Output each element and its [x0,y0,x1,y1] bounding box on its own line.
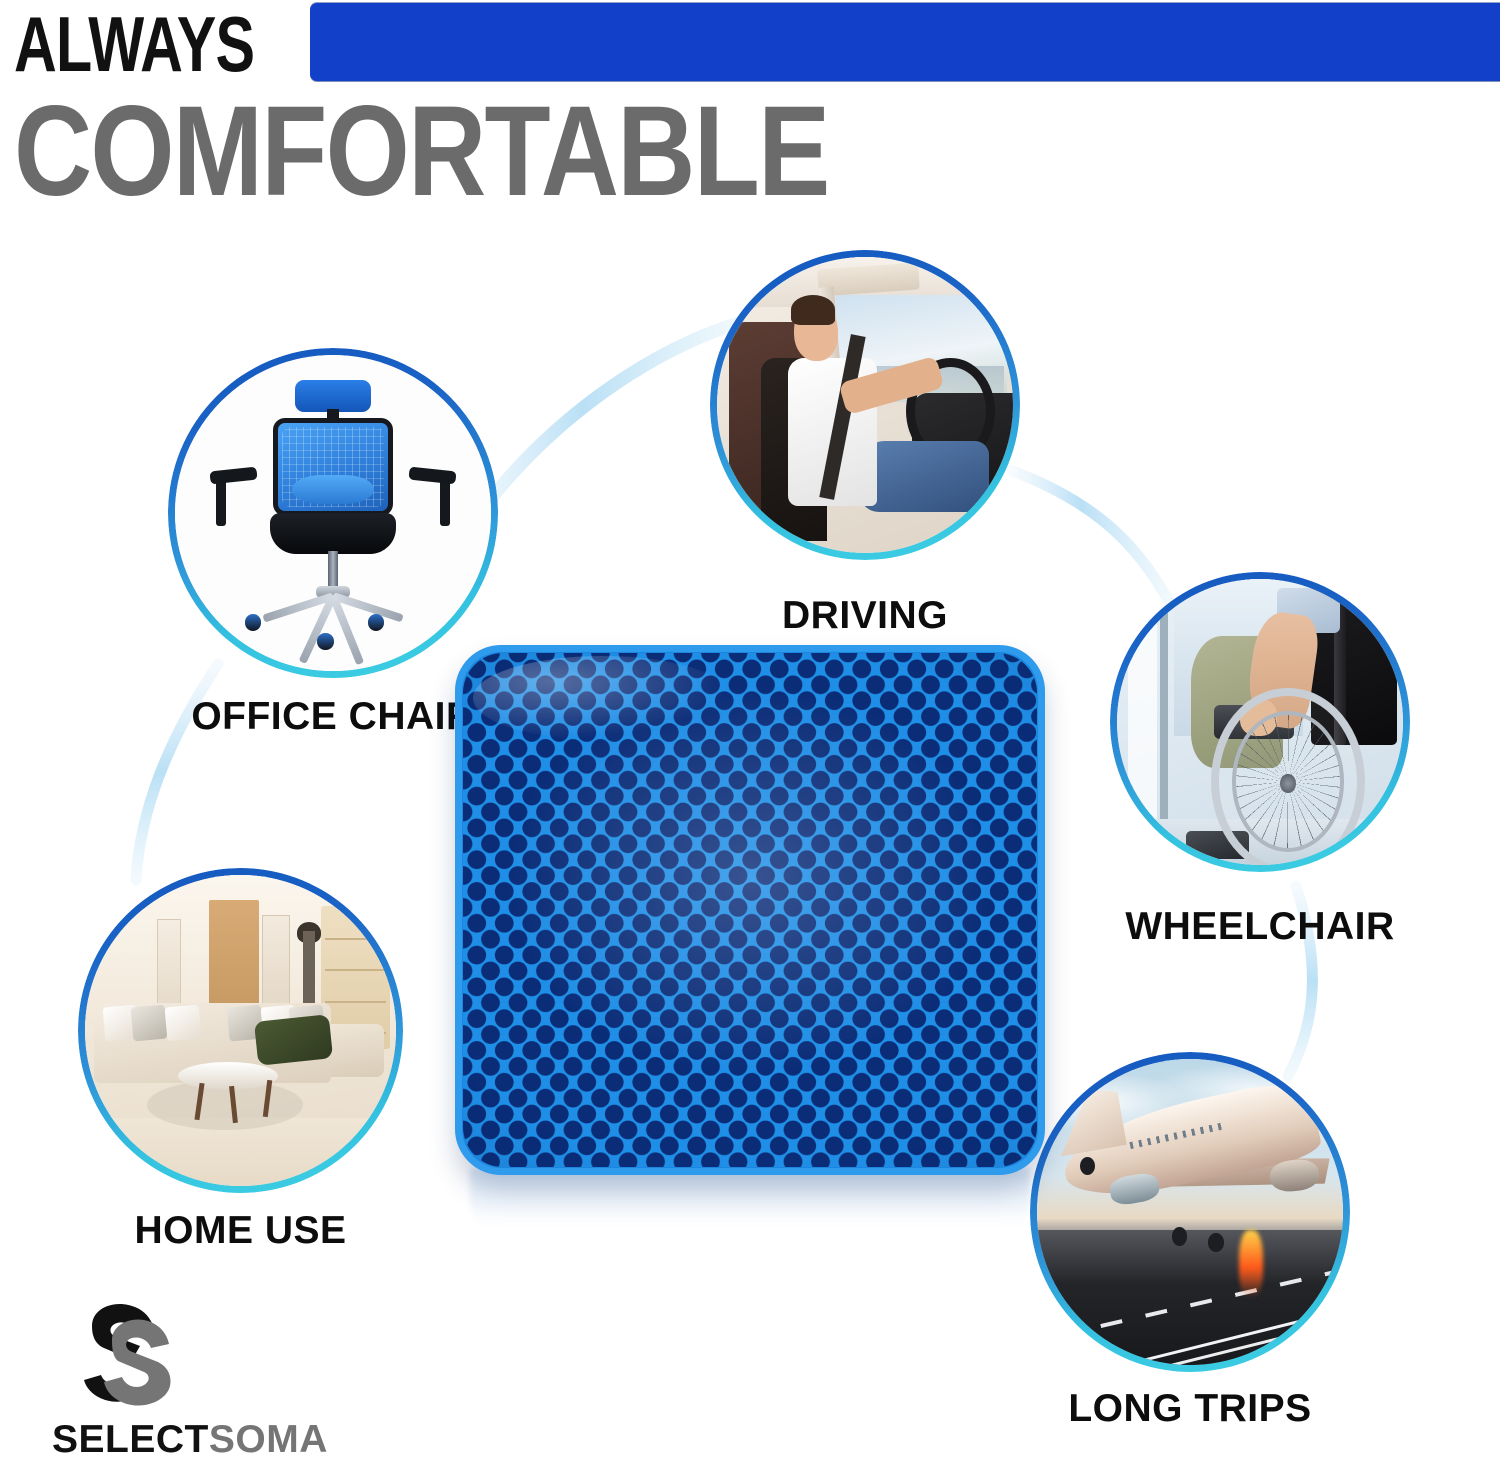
brand-name-part1: SELECT [52,1418,209,1461]
headline-line-2: COMFORTABLE [14,88,829,216]
circle-photo-wheelchair [1117,579,1403,865]
brand-name-part2: SOMA [209,1418,328,1461]
caption-office-chair: OFFICE CHAIR [168,695,498,739]
cushion-reflection [470,1168,1030,1240]
use-case-circle-long-trips[interactable] [1030,1052,1350,1372]
use-case-circle-home-use[interactable] [78,868,403,1193]
use-case-circle-wheelchair[interactable] [1110,572,1410,872]
brand-wordmark: SELECTSOMA [52,1418,328,1462]
caption-driving: DRIVING [705,594,1025,638]
caption-long-trips: LONG TRIPS [1025,1387,1355,1431]
use-case-circle-office-chair[interactable] [168,348,498,678]
header-banner: ALWAYS COMFORTABLE [0,0,1500,230]
header-blue-bar [310,3,1500,81]
double-s-monogram-icon [74,1296,186,1412]
circle-photo-driving [717,257,1013,553]
circle-photo-office-chair [175,355,491,671]
cushion-body [455,645,1045,1175]
caption-home-use: HOME USE [78,1209,403,1253]
circle-photo-long-trips [1037,1059,1343,1365]
headline-line-1: ALWAYS [14,5,254,83]
circle-photo-home-use [85,875,396,1186]
cushion-shading [463,653,1037,1167]
brand-logo[interactable]: SELECTSOMA [52,1296,312,1464]
caption-wheelchair: WHEELCHAIR [1095,905,1425,949]
product-gel-seat-cushion[interactable] [455,645,1045,1175]
use-case-circle-driving[interactable] [710,250,1020,560]
